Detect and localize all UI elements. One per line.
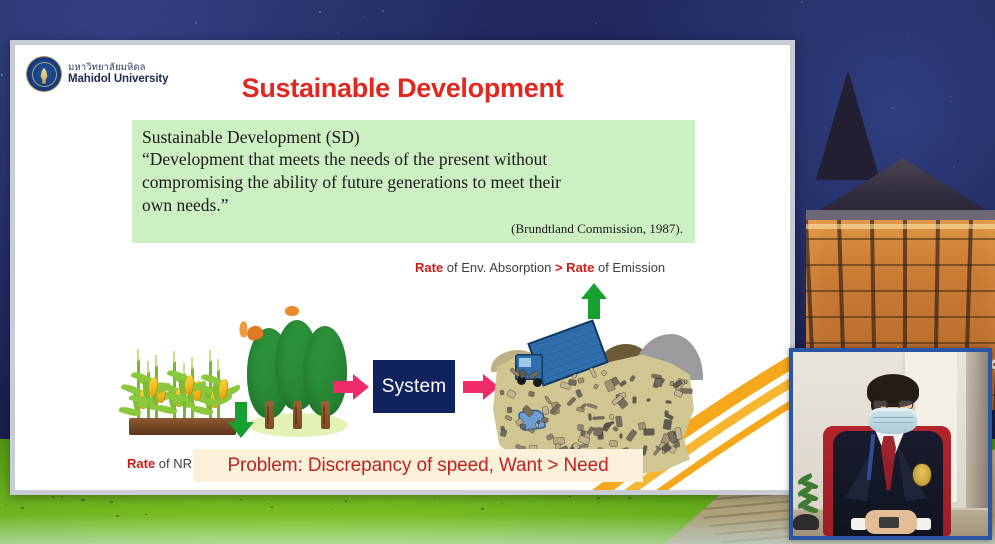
- dump-truck-window: [519, 358, 531, 367]
- landfill-debris: [500, 390, 504, 395]
- corn-soil: [129, 418, 236, 435]
- landfill-debris: [581, 431, 585, 435]
- landfill-debris: [594, 428, 602, 435]
- building-roof-edge: [806, 210, 995, 220]
- arrow-head: [581, 283, 607, 299]
- grass-speck: [240, 499, 242, 500]
- building-spire: [816, 70, 880, 180]
- label-rate-1: Rate: [415, 260, 443, 275]
- definition-heading: Sustainable Development (SD): [142, 126, 687, 148]
- landfill-debris: [569, 379, 577, 385]
- grass-speck: [598, 501, 599, 502]
- label-rate-3: Rate: [127, 456, 155, 471]
- facade-glow-band: [806, 224, 995, 229]
- tree-trunk-1: [265, 401, 274, 429]
- problem-banner-text: Problem: Discrepancy of speed, Want > Ne…: [227, 455, 608, 477]
- corn-tassel: [147, 361, 149, 373]
- facade-band: [806, 316, 995, 318]
- tree-trunk-2: [293, 401, 302, 429]
- landfill-debris: [620, 434, 622, 438]
- star: [338, 32, 339, 33]
- system-box-label: System: [382, 376, 447, 398]
- facade-band: [806, 290, 995, 292]
- grass-speck: [481, 508, 484, 510]
- logo-thai-name: มหาวิทยาลัยมหิดล: [68, 63, 168, 73]
- system-box: System: [373, 360, 455, 413]
- grass-speck: [110, 501, 113, 503]
- star: [1, 74, 3, 76]
- landfill-debris: [610, 415, 613, 419]
- blazer-crest-icon: [913, 464, 931, 486]
- corn-tassel: [173, 351, 175, 363]
- landfill-debris: [610, 441, 617, 446]
- corn-tassel: [137, 349, 139, 361]
- arrow-right-input: [333, 374, 369, 400]
- grass-speck: [331, 509, 332, 510]
- corn-tassel: [217, 359, 219, 371]
- star: [364, 16, 365, 17]
- arrow-head: [228, 422, 254, 438]
- bird-icon: [285, 306, 299, 316]
- video-frame: [793, 352, 988, 536]
- grass-speck: [21, 507, 24, 509]
- arrow-shaft: [333, 381, 355, 393]
- landfill-debris: [578, 425, 583, 430]
- definition-quote-line-3: own needs.”: [142, 194, 687, 217]
- corn-tassel: [155, 355, 157, 367]
- grass-speck: [271, 506, 273, 508]
- grass-speck: [52, 496, 54, 498]
- landfill-debris: [520, 424, 525, 429]
- grass-speck: [81, 499, 85, 501]
- facade-band: [806, 264, 995, 266]
- landfill-debris: [542, 418, 548, 422]
- definition-quote-line-2: compromising the ability of future gener…: [142, 171, 687, 194]
- grass-speck: [597, 497, 600, 499]
- tree-trunk-3: [321, 401, 330, 429]
- landfill-debris: [654, 378, 662, 386]
- corn-tassel: [191, 357, 193, 369]
- label-tail-1: of Emission: [594, 260, 665, 275]
- star: [595, 22, 597, 24]
- landfill-debris: [529, 391, 535, 396]
- grass-speck: [628, 497, 631, 499]
- label-operator-1: >: [555, 260, 563, 275]
- slide-title: Sustainable Development: [15, 73, 790, 104]
- landfill-debris: [542, 407, 548, 415]
- landfill-debris: [580, 445, 588, 447]
- arrow-shaft: [588, 297, 600, 319]
- arrow-head: [353, 374, 369, 400]
- grass-speck: [345, 500, 347, 502]
- arrow-up-emission: [581, 283, 607, 319]
- facade-band: [806, 342, 995, 344]
- handheld-device: [879, 517, 899, 528]
- facade-band: [806, 238, 995, 240]
- grass-speck: [501, 503, 502, 504]
- landfill-debris: [644, 429, 654, 435]
- face-mask-icon: [869, 408, 917, 434]
- star: [907, 33, 908, 34]
- landfill-debris: [633, 397, 636, 403]
- shirt-cuff-right: [915, 518, 931, 530]
- arrow-shaft: [235, 402, 247, 424]
- star: [382, 10, 384, 12]
- grass-speck: [569, 496, 571, 497]
- dump-truck-wheel-2: [533, 378, 542, 387]
- definition-box: Sustainable Development (SD) “Developmen…: [132, 120, 695, 243]
- label-mid-1: of Env. Absorption: [443, 260, 555, 275]
- label-rate-2: Rate: [563, 260, 595, 275]
- star: [319, 11, 321, 13]
- corn-tassel: [209, 350, 211, 362]
- definition-quote-line-1: “Development that meets the needs of the…: [142, 148, 687, 171]
- grass-speck: [5, 504, 6, 505]
- side-table: [793, 514, 819, 530]
- problem-banner: Problem: Discrepancy of speed, Want > Ne…: [193, 449, 643, 482]
- label-env-absorption: Rate of Env. Absorption > Rate of Emissi…: [415, 260, 665, 275]
- star: [195, 22, 197, 24]
- presenter-video-feed[interactable]: [789, 348, 992, 540]
- arrow-shaft: [463, 381, 485, 393]
- corn-field-icon: [125, 330, 240, 435]
- star: [801, 1, 803, 3]
- star: [4, 157, 5, 158]
- grass-speck: [267, 503, 268, 504]
- landfill-debris: [507, 407, 511, 412]
- landfill-debris: [670, 381, 673, 385]
- grass-speck: [61, 496, 63, 497]
- presentation-slide-frame: มหาวิทยาลัยมหิดล Mahidol University Sust…: [10, 40, 795, 495]
- glasses-bridge: [888, 404, 898, 405]
- plant-icon: [795, 472, 817, 512]
- screen: มหาวิทยาลัยมหิดล Mahidol University Sust…: [0, 0, 995, 544]
- grass-speck: [434, 498, 435, 499]
- presentation-slide: มหาวิทยาลัยมหิดล Mahidol University Sust…: [15, 45, 790, 490]
- definition-citation: (Brundtland Commission, 1987).: [142, 221, 687, 237]
- star: [954, 10, 955, 11]
- arrow-down-nr-established: [228, 402, 254, 438]
